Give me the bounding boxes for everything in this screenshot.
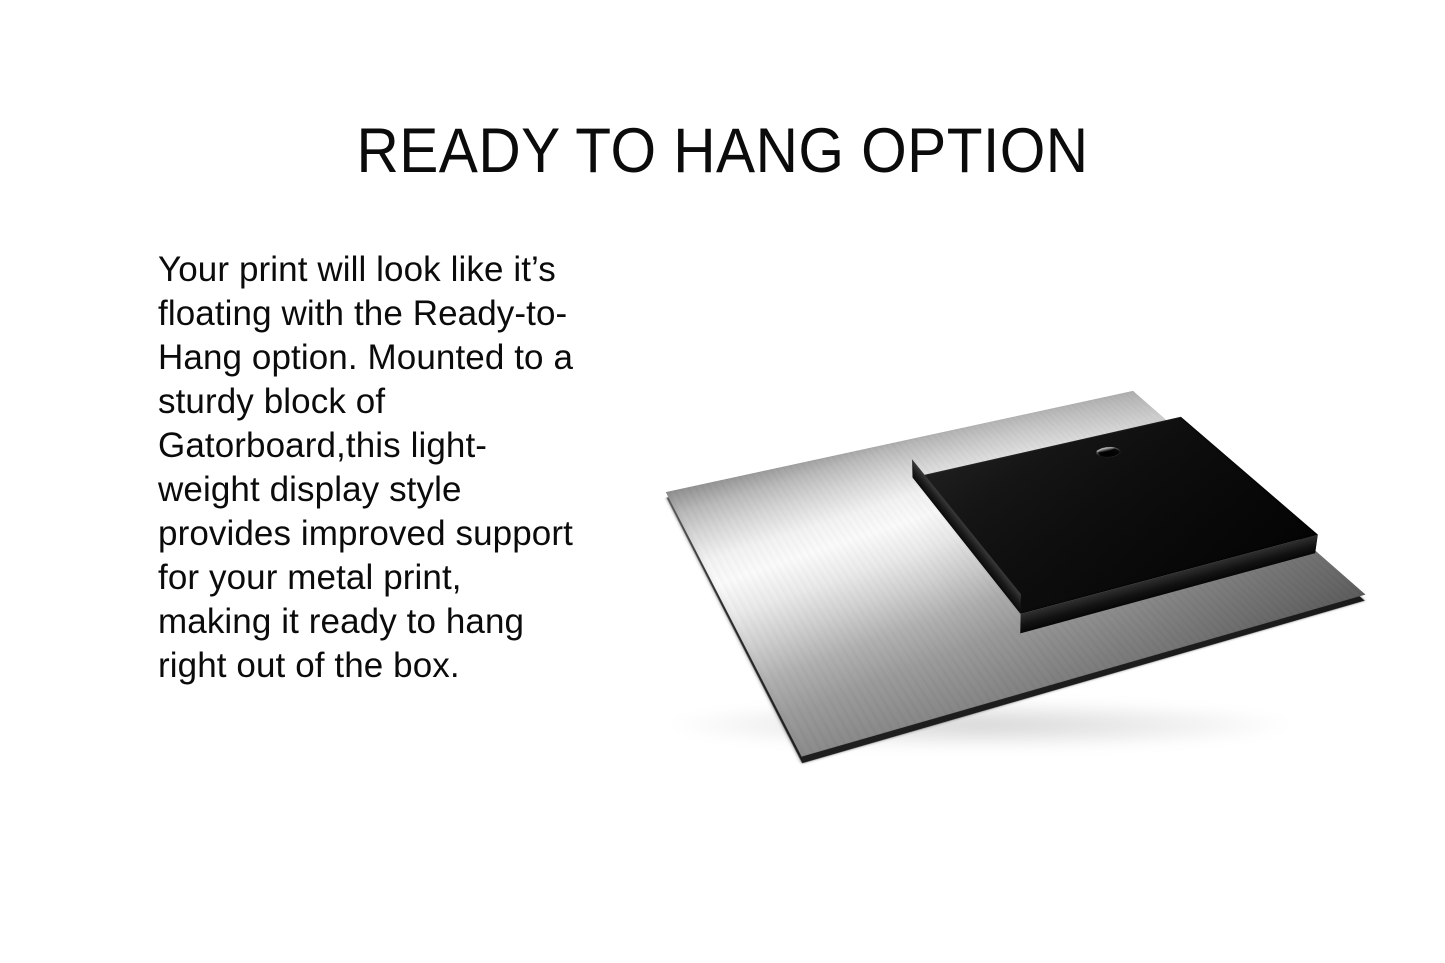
product-illustration xyxy=(600,300,1420,780)
brushed-aluminium-panel xyxy=(666,391,1366,757)
body-paragraph: Your print will look like it’s floating … xyxy=(158,248,578,688)
slide-canvas: READY TO HANG OPTION Your print will loo… xyxy=(0,0,1445,963)
product-scene xyxy=(550,365,1445,812)
page-title: READY TO HANG OPTION xyxy=(51,120,1395,183)
